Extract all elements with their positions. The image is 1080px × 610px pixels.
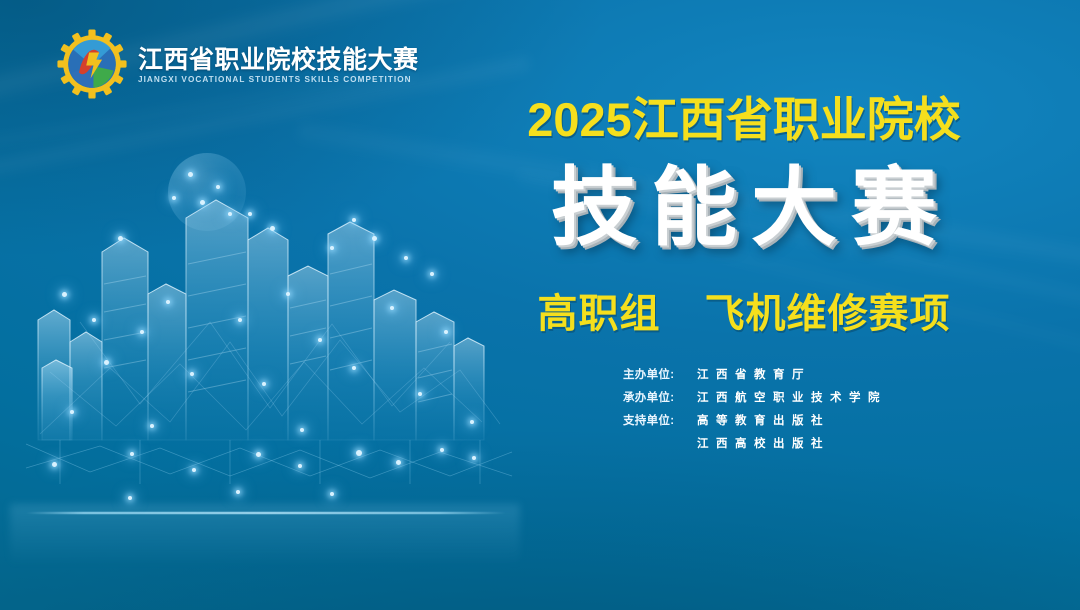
credit-value: 高等教育出版社 [697, 412, 865, 428]
poster-canvas: 江西省职业院校技能大赛 JIANGXI VOCATIONAL STUDENTS … [0, 0, 1080, 610]
headline-block: 2025江西省职业院校 技能大赛 高职组飞机维修赛项 主办单位: 江西省教育厅 … [484, 96, 1004, 451]
credit-value: 江西航空职业技术学院 [697, 389, 865, 405]
credit-row: 承办单位: 江西航空职业技术学院 [623, 389, 865, 405]
logo-chinese-name: 江西省职业院校技能大赛 [138, 48, 419, 73]
event-logo[interactable]: 江西省职业院校技能大赛 JIANGXI VOCATIONAL STUDENTS … [56, 28, 419, 100]
credit-label: 主办单位: [623, 366, 697, 382]
title-subtitle-line: 高职组飞机维修赛项 [484, 294, 1004, 334]
competition-event: 飞机维修赛项 [705, 292, 951, 336]
credit-row: 支持单位: 江西高校出版社 [623, 435, 865, 451]
title-year-line: 2025江西省职业院校 [484, 96, 1004, 143]
credit-value: 江西高校出版社 [697, 435, 865, 451]
credit-row: 主办单位: 江西省教育厅 [623, 366, 865, 382]
credit-value: 江西省教育厅 [697, 366, 865, 382]
logo-text-block: 江西省职业院校技能大赛 JIANGXI VOCATIONAL STUDENTS … [138, 44, 419, 84]
organiser-credits: 主办单位: 江西省教育厅 承办单位: 江西航空职业技术学院 支持单位: 高等教育… [484, 366, 1004, 451]
credit-label: 支持单位: [623, 412, 697, 428]
logo-english-name: JIANGXI VOCATIONAL STUDENTS SKILLS COMPE… [138, 76, 419, 84]
gear-emblem-icon [56, 28, 128, 100]
competition-group: 高职组 [538, 292, 661, 336]
credit-row: 支持单位: 高等教育出版社 [623, 412, 865, 428]
credit-label: 承办单位: [623, 389, 697, 405]
title-main-line: 技能大赛 [498, 163, 1004, 254]
